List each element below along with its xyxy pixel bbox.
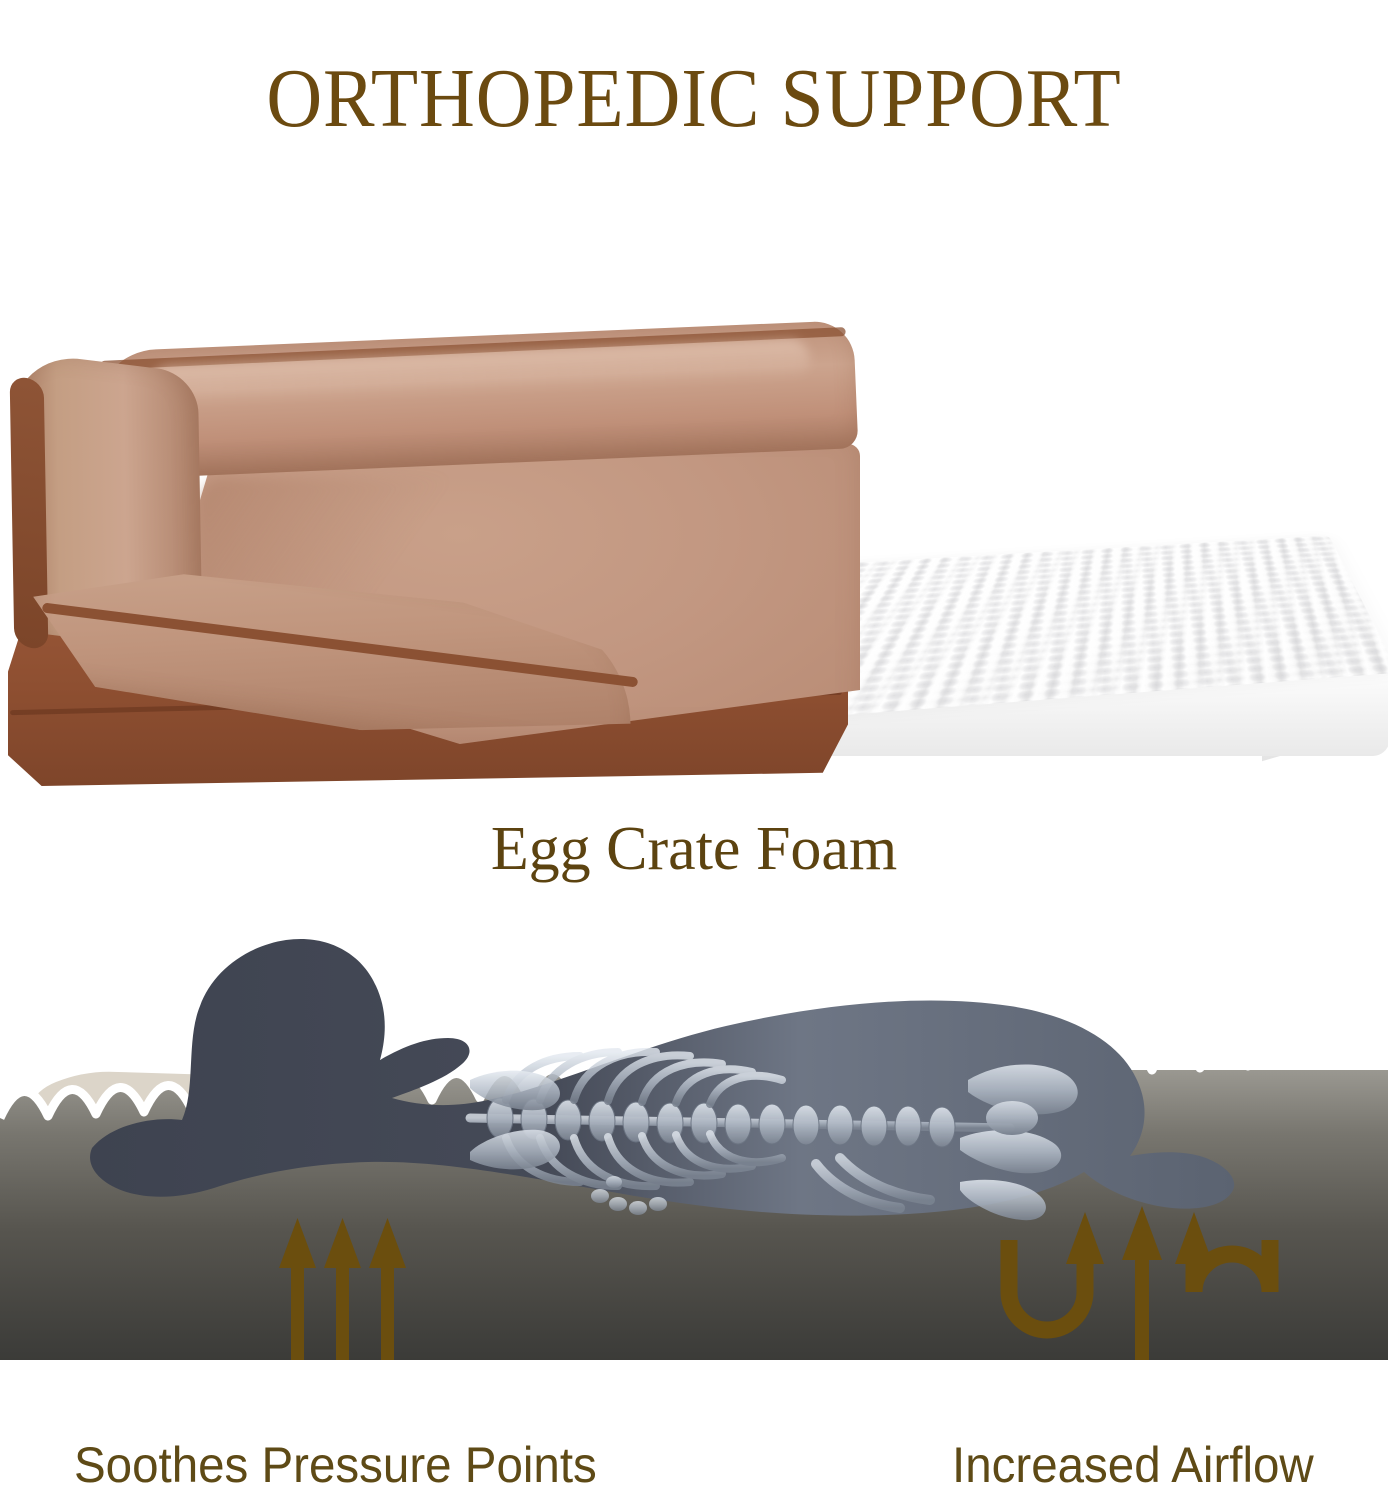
page-title: ORTHOPEDIC SUPPORT xyxy=(56,52,1333,146)
caption-increased-airflow: Increased Airflow xyxy=(952,1436,1314,1494)
cross-section-diagram xyxy=(0,920,1388,1360)
product-photo: BEDFOLKS xyxy=(0,318,1388,810)
bolster-dog-bed xyxy=(0,318,880,798)
egg-crate-foam-caption: Egg Crate Foam xyxy=(0,812,1388,886)
pressure-point-arrows xyxy=(279,1218,406,1360)
caption-soothes-pressure-points: Soothes Pressure Points xyxy=(74,1436,597,1494)
